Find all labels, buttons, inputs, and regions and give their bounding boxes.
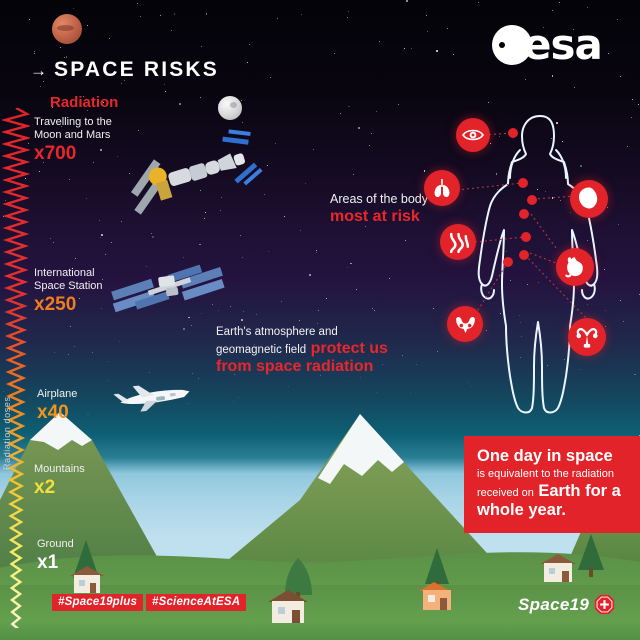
hashtag-scienceatesa[interactable]: #ScienceAtESA (146, 594, 246, 611)
space19-text: Space19 (518, 595, 589, 615)
body-point-breast (527, 195, 537, 205)
callout-box: One day in space is equivalent to the ra… (464, 436, 640, 533)
pelvis-bone-icon[interactable] (447, 306, 483, 342)
callout-line4: whole year. (477, 501, 627, 520)
eye-icon[interactable] (456, 118, 490, 152)
body-point-pelvis (503, 257, 513, 267)
stomach-icon[interactable] (556, 248, 594, 286)
body-point-uterus (519, 250, 529, 260)
callout-line3-small: received on (477, 487, 534, 499)
uterus-icon[interactable] (568, 318, 606, 356)
space19-plus-badge-icon (594, 594, 615, 615)
infographic-root: esa → SPACE RISKS Radiation Radiation do… (0, 0, 640, 640)
lungs-icon[interactable] (424, 170, 460, 206)
breast-icon[interactable] (570, 180, 608, 218)
callout-line2: is equivalent to the radiation (477, 466, 627, 482)
hashtag-space19plus[interactable]: #Space19plus (52, 594, 143, 611)
body-point-intestines (521, 232, 531, 242)
space19-campaign-logo: Space19 (518, 594, 615, 615)
callout-line3-big: Earth for a (538, 482, 621, 500)
body-point-eye (508, 128, 518, 138)
intestines-icon[interactable] (440, 224, 476, 260)
body-point-lungs (518, 178, 528, 188)
body-point-heart (519, 209, 529, 219)
callout-line1: One day in space (477, 447, 627, 466)
organ-connector-lines (0, 0, 640, 640)
